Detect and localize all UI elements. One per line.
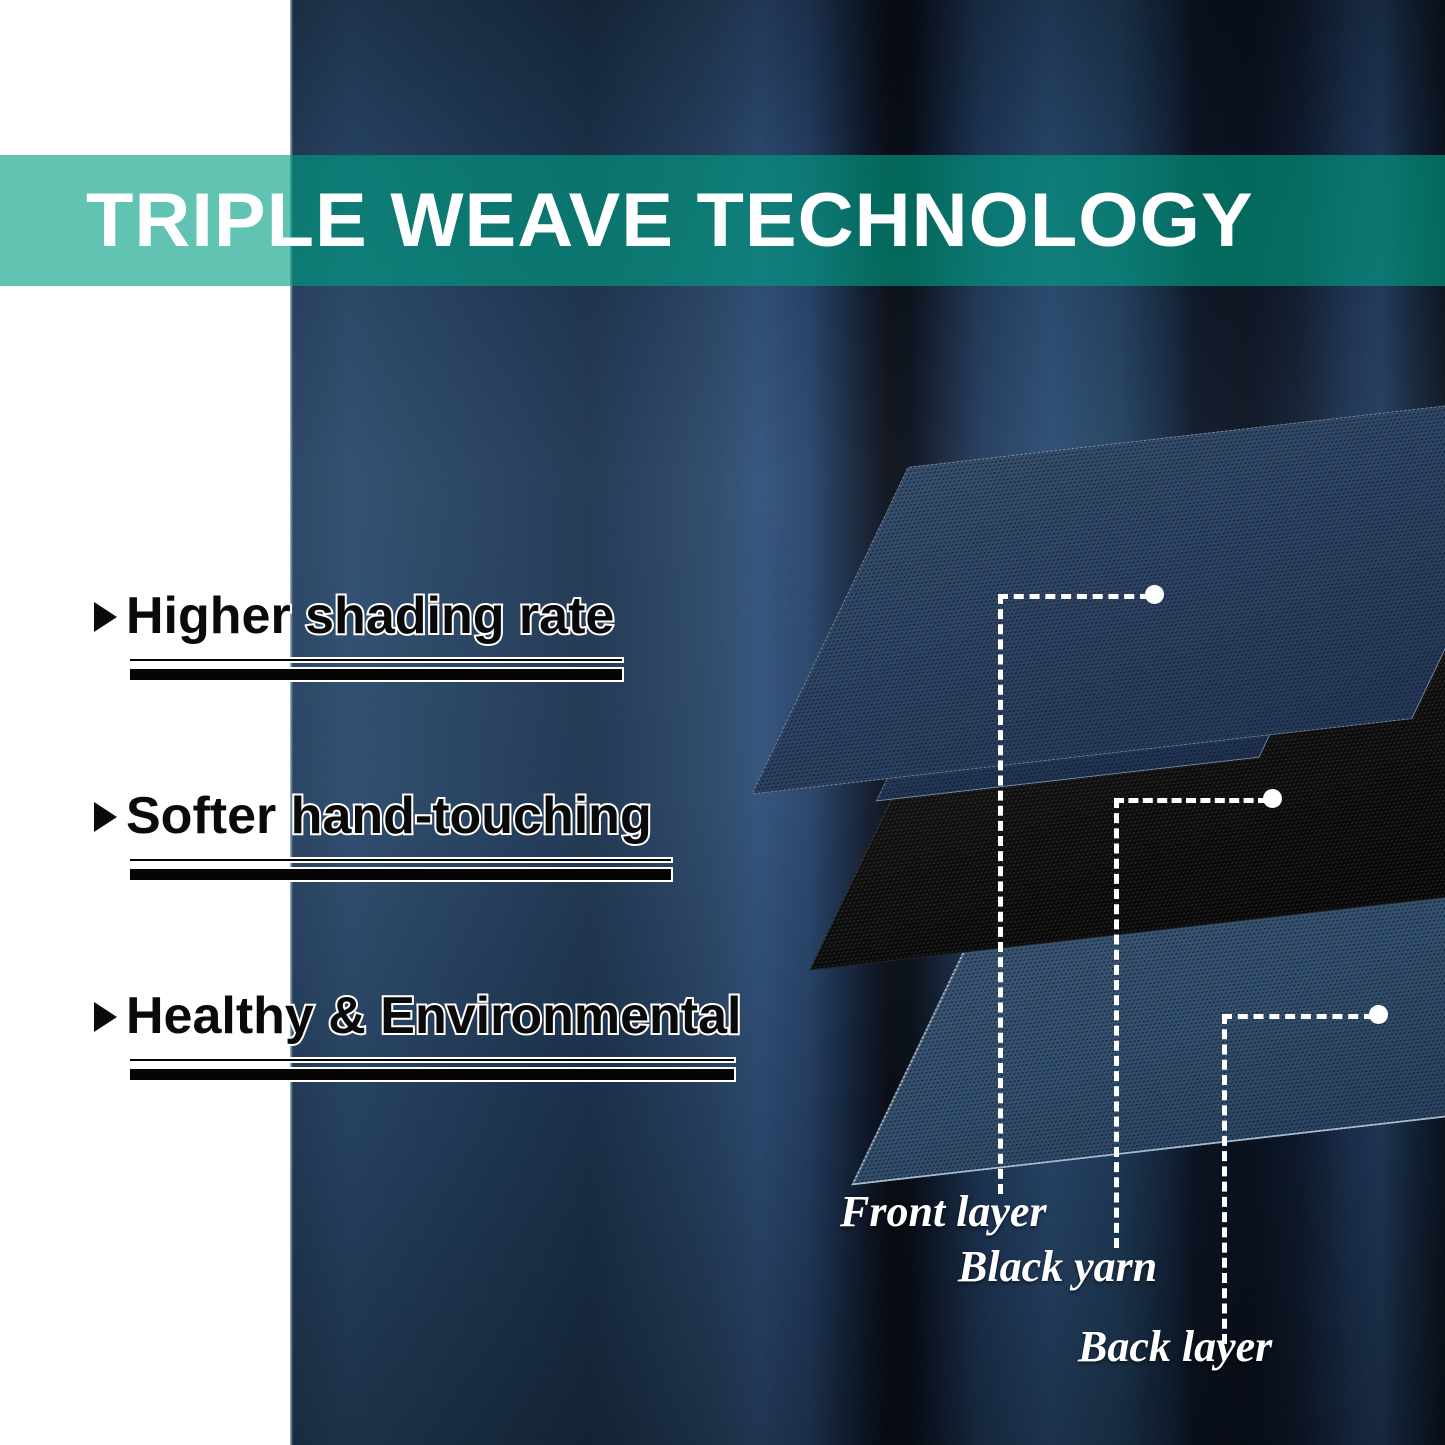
triangle-right-icon (92, 799, 122, 833)
triangle-right-icon (92, 999, 122, 1033)
triangle-right-icon (92, 599, 122, 633)
feature-underline (128, 857, 673, 882)
underline-bar-thick (128, 1067, 736, 1082)
banner-title: TRIPLE WEAVE TECHNOLOGY (86, 183, 1254, 259)
feature-list: Higher shading rate Softer hand-touching… (92, 585, 832, 1082)
underline-bar-thick (128, 667, 624, 682)
feature-underline (128, 1057, 736, 1082)
feature-item-higher-shading-rate: Higher shading rate (92, 585, 832, 682)
underline-bar-thick (128, 867, 673, 882)
headline-banner: TRIPLE WEAVE TECHNOLOGY (0, 155, 1445, 286)
feature-underline (128, 657, 624, 682)
underline-bar-thin (128, 657, 624, 663)
product-feature-image: Front layer Black yarn Back layer TRIPLE… (0, 0, 1445, 1445)
feature-item-healthy-environmental: Healthy & Environmental (92, 985, 832, 1082)
feature-label: Healthy & Environmental (126, 988, 741, 1044)
feature-item-softer-hand-touching: Softer hand-touching (92, 785, 832, 882)
feature-label: Higher shading rate (126, 588, 614, 644)
underline-bar-thin (128, 1057, 736, 1063)
triple-weave-layer-diagram (830, 420, 1445, 1220)
underline-bar-thin (128, 857, 673, 863)
feature-label: Softer hand-touching (126, 788, 652, 844)
